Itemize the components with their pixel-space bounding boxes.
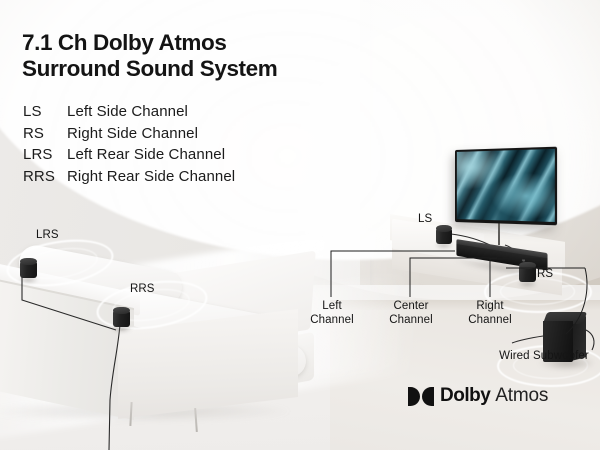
label-rrs: RRS (130, 283, 155, 297)
legend-item: LRS Left Rear Side Channel (23, 146, 235, 163)
label-right-channel-line2: Channel (462, 314, 518, 328)
page-title: 7.1 Ch Dolby Atmos Surround Sound System (22, 30, 362, 82)
tv-screen (457, 149, 555, 222)
dolby-atmos-logo: Dolby Atmos (408, 383, 548, 409)
dolby-wordmark: Dolby (440, 385, 490, 407)
title-line-2: Surround Sound System (22, 56, 362, 82)
speaker-lrs (20, 258, 37, 280)
title-line-1: 7.1 Ch Dolby Atmos (22, 30, 227, 55)
legend-item: RS Right Side Channel (23, 125, 235, 142)
label-lrs: LRS (36, 229, 59, 243)
label-center-channel: Center Channel (382, 300, 440, 327)
speaker-ls (436, 225, 452, 246)
label-left-channel-line2: Channel (306, 314, 358, 328)
legend-value: Left Rear Side Channel (67, 146, 225, 163)
legend-key: LRS (23, 146, 67, 163)
label-left-channel-line1: Left (306, 300, 358, 314)
label-wired-subwoofer: Wired Subwoofer (492, 350, 596, 364)
legend-value: Right Side Channel (67, 125, 198, 142)
dolby-d-left (408, 387, 420, 406)
atmos-wordmark: Atmos (495, 385, 548, 407)
legend-item: LS Left Side Channel (23, 103, 235, 120)
dolby-d-right (422, 387, 434, 406)
legend-item: RRS Right Rear Side Channel (23, 168, 235, 185)
tv-screen-gloss (457, 149, 555, 222)
product-infographic: LRS RRS LS RS Left Channel Center Channe… (0, 0, 600, 450)
label-center-channel-line2: Channel (382, 314, 440, 328)
label-left-channel: Left Channel (306, 300, 358, 327)
legend-key: RRS (23, 168, 67, 185)
television (455, 147, 557, 226)
legend-value: Right Rear Side Channel (67, 168, 235, 185)
label-center-channel-line1: Center (382, 300, 440, 314)
speaker-rrs (113, 307, 130, 329)
speaker-top (436, 225, 452, 232)
label-right-channel: Right Channel (462, 300, 518, 327)
legend-key: LS (23, 103, 67, 120)
legend-key: RS (23, 125, 67, 142)
channel-legend: LS Left Side Channel RS Right Side Chann… (23, 103, 235, 189)
label-right-channel-line1: Right (462, 300, 518, 314)
legend-value: Left Side Channel (67, 103, 188, 120)
label-ls: LS (418, 213, 432, 227)
dolby-double-d-icon (408, 387, 434, 406)
speaker-rs (519, 262, 536, 284)
label-rs: RS (537, 268, 553, 282)
